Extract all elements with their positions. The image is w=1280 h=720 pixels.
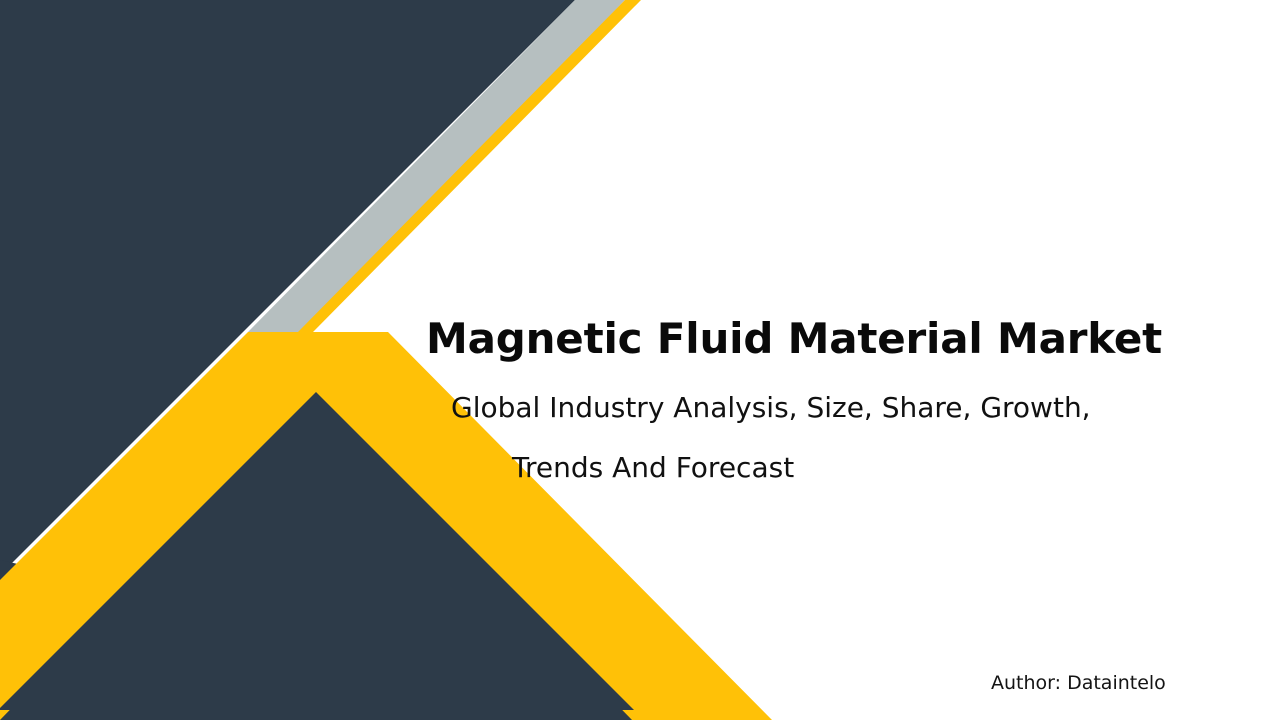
title-slide: Magnetic Fluid Material Market Global In…	[0, 0, 1280, 720]
author-label: Author: Dataintelo	[991, 672, 1166, 694]
subtitle-line-2: Trends And Forecast	[451, 438, 1151, 498]
subtitle-line-1: Global Industry Analysis, Size, Share, G…	[451, 391, 1091, 424]
slide-content: Magnetic Fluid Material Market Global In…	[0, 0, 1280, 720]
slide-subtitle: Global Industry Analysis, Size, Share, G…	[451, 378, 1151, 498]
page-title: Magnetic Fluid Material Market	[426, 318, 1162, 360]
